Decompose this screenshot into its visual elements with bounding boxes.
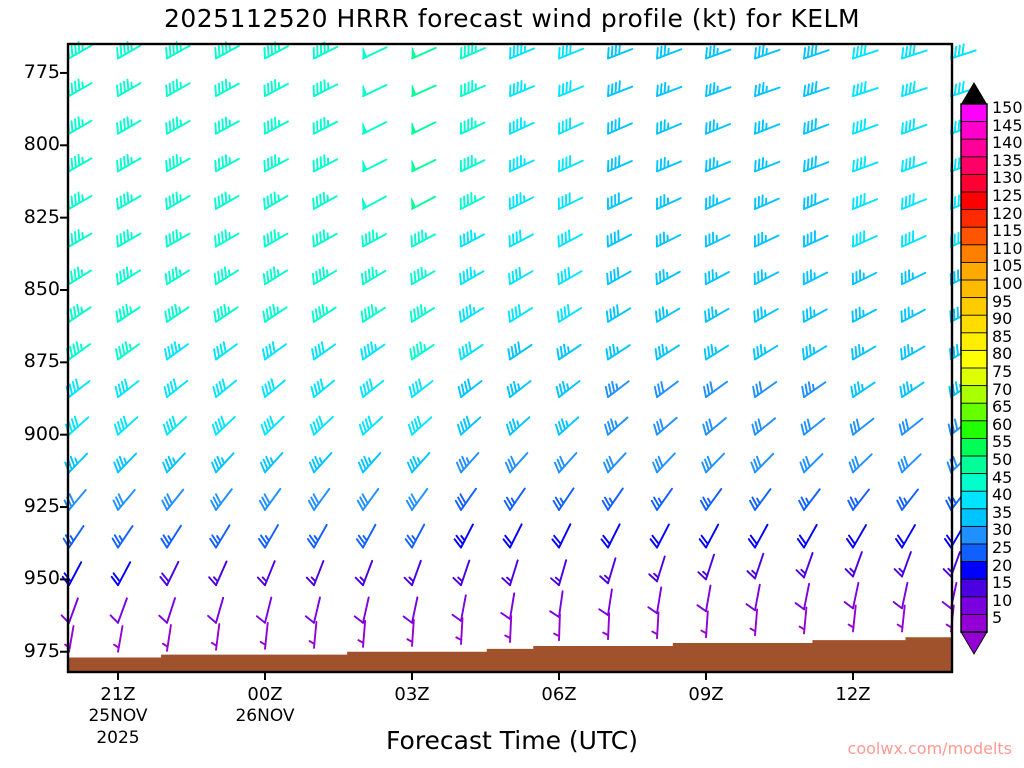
watermark: coolwx.com/modelts bbox=[848, 739, 1012, 758]
colorbar bbox=[961, 82, 987, 654]
colorbar-tick-label: 100 bbox=[992, 276, 1023, 292]
colorbar-tick-label: 25 bbox=[992, 540, 1012, 556]
colorbar-tick-label: 115 bbox=[992, 223, 1023, 239]
colorbar-tick-label: 65 bbox=[992, 399, 1012, 415]
x-axis-tick-label: 00Z bbox=[205, 684, 325, 705]
colorbar-tick-label: 135 bbox=[992, 153, 1023, 169]
colorbar-tick-label: 140 bbox=[992, 135, 1023, 151]
y-axis-tick-label: 800 bbox=[0, 133, 60, 155]
y-axis-tick-label: 875 bbox=[0, 350, 60, 372]
colorbar-tick-label: 40 bbox=[992, 487, 1012, 503]
colorbar-tick-label: 120 bbox=[992, 206, 1023, 222]
colorbar-tick-label: 80 bbox=[992, 346, 1012, 362]
colorbar-tick-label: 145 bbox=[992, 118, 1023, 134]
y-axis-tick-label: 850 bbox=[0, 278, 60, 300]
colorbar-tick-label: 125 bbox=[992, 188, 1023, 204]
x-axis-tick-label: 06Z bbox=[499, 684, 619, 705]
colorbar-tick-label: 35 bbox=[992, 505, 1012, 521]
x-axis-tick-label: 21Z bbox=[58, 684, 178, 705]
y-axis-tick-label: 950 bbox=[0, 567, 60, 589]
colorbar-tick-label: 55 bbox=[992, 434, 1012, 450]
colorbar-tick-label: 45 bbox=[992, 470, 1012, 486]
colorbar-tick-label: 15 bbox=[992, 575, 1012, 591]
colorbar-tick-label: 110 bbox=[992, 241, 1023, 257]
colorbar-tick-label: 70 bbox=[992, 382, 1012, 398]
x-axis-tick-date: 26NOV bbox=[205, 706, 325, 726]
colorbar-tick-label: 20 bbox=[992, 558, 1012, 574]
colorbar-tick-label: 10 bbox=[992, 593, 1012, 609]
wind-profile-chart: 2025112520 HRRR forecast wind profile (k… bbox=[0, 0, 1024, 768]
colorbar-tick-label: 85 bbox=[992, 329, 1012, 345]
colorbar-tick-label: 75 bbox=[992, 364, 1012, 380]
x-axis-tick-date: 25NOV bbox=[58, 706, 178, 726]
colorbar-tick-label: 150 bbox=[992, 100, 1023, 116]
x-axis-tick-label: 09Z bbox=[646, 684, 766, 705]
wind-barb bbox=[951, 44, 976, 58]
colorbar-tick-label: 95 bbox=[992, 294, 1012, 310]
y-axis-tick-label: 825 bbox=[0, 206, 60, 228]
y-axis-tick-label: 925 bbox=[0, 495, 60, 517]
colorbar-tick-label: 130 bbox=[992, 170, 1023, 186]
colorbar-tick-label: 5 bbox=[992, 610, 1002, 626]
y-axis-tick-label: 900 bbox=[0, 423, 60, 445]
colorbar-tick-label: 60 bbox=[992, 417, 1012, 433]
x-axis-tick-label: 03Z bbox=[352, 684, 472, 705]
y-axis-tick-label: 775 bbox=[0, 61, 60, 83]
plot-canvas bbox=[0, 0, 1024, 768]
x-axis-tick-label: 12Z bbox=[793, 684, 913, 705]
colorbar-tick-label: 30 bbox=[992, 522, 1012, 538]
colorbar-tick-label: 50 bbox=[992, 452, 1012, 468]
colorbar-tick-label: 105 bbox=[992, 258, 1023, 274]
y-axis-tick-label: 975 bbox=[0, 640, 60, 662]
colorbar-tick-label: 90 bbox=[992, 311, 1012, 327]
